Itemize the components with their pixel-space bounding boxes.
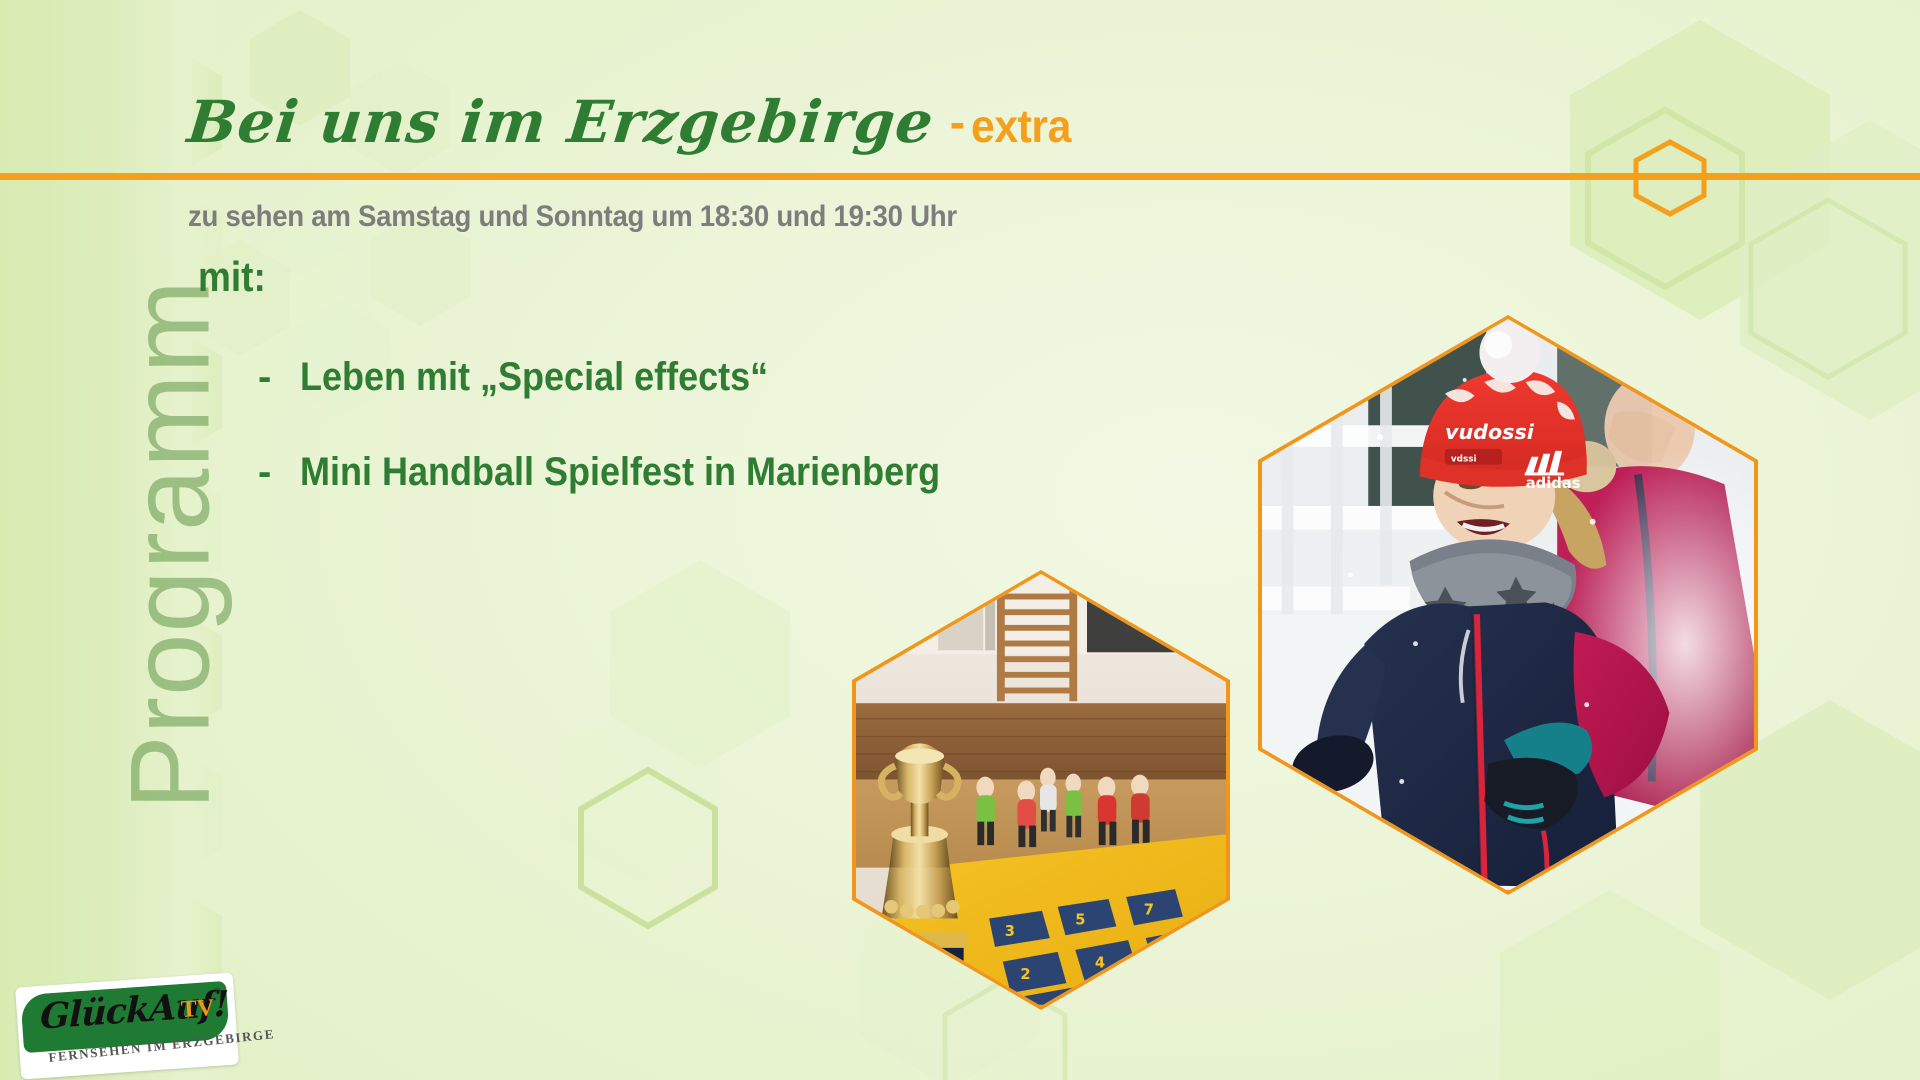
handball-gym-photo: 357 246 EGER terpokal ßliturnier — [852, 570, 1230, 1010]
page-title-extra: extra — [971, 99, 1071, 153]
divider-hexagon-icon — [1631, 139, 1709, 217]
svg-text:6: 6 — [1165, 945, 1175, 962]
list-item-marker: - — [258, 355, 300, 400]
svg-text:terpokal: terpokal — [872, 954, 916, 967]
photo-image: vudossi vdssi adidas — [1262, 319, 1754, 891]
page-title: Bei uns im Erzgebirge-extra — [188, 88, 1079, 156]
winter-children-photo: vudossi vdssi adidas — [1258, 315, 1758, 895]
with-label: mit: — [198, 253, 266, 301]
list-item: - Leben mit „Special effects“ — [258, 355, 1011, 400]
left-gradient-band — [0, 0, 232, 1080]
list-item: - Mini Handball Spielfest in Marienberg — [258, 450, 1011, 495]
svg-text:4: 4 — [1095, 954, 1105, 971]
list-item-marker: - — [258, 450, 300, 495]
page-title-script: Bei uns im Erzgebirge — [184, 88, 937, 156]
svg-text:3: 3 — [1005, 923, 1015, 940]
program-item-list: - Leben mit „Special effects“ - Mini Han… — [258, 355, 1011, 545]
svg-text:7: 7 — [1144, 902, 1154, 919]
svg-text:vudossi: vudossi — [1445, 420, 1535, 444]
svg-text:ßliturnier: ßliturnier — [872, 969, 921, 982]
svg-text:adidas: adidas — [1526, 475, 1581, 492]
svg-text:2: 2 — [1020, 966, 1030, 983]
slide-canvas: Programm Bei uns im Erzgebirge-extra zu … — [0, 0, 1920, 1080]
svg-text:5: 5 — [1075, 911, 1085, 928]
page-title-dash: - — [950, 95, 965, 149]
list-item-label: Mini Handball Spielfest in Marienberg — [300, 450, 940, 495]
logo-registered-mark: ® — [214, 986, 221, 996]
photo-image: 357 246 EGER terpokal ßliturnier — [856, 574, 1226, 1006]
svg-text:EGER: EGER — [876, 933, 917, 948]
logo-tv-suffix: TV — [180, 995, 215, 1024]
svg-text:vdssi: vdssi — [1451, 455, 1477, 465]
list-item-label: Leben mit „Special effects“ — [300, 355, 768, 400]
broadcast-time-subtitle: zu sehen am Samstag und Sonntag um 18:30… — [188, 200, 957, 234]
glueckauf-tv-logo: GlückAuf! TV ® FERNSEHEN IM ERZGEBIRGE — [18, 980, 236, 1072]
